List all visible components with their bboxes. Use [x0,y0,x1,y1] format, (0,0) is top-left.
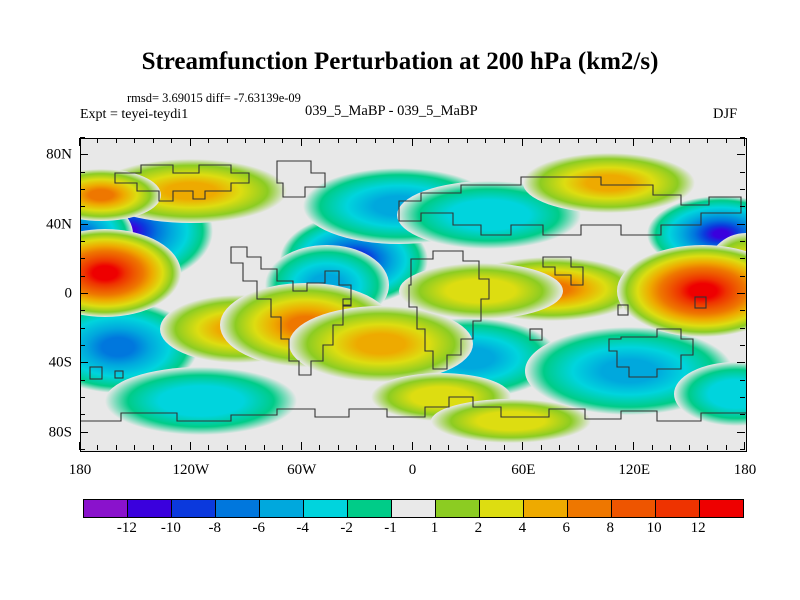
x-tick [134,138,135,143]
x-tick [707,445,708,450]
x-tick [726,445,727,450]
x-tick [245,445,246,450]
x-tick [153,138,154,143]
colorbar-tick-label: -10 [161,520,181,537]
x-tick [578,138,579,143]
colorbar-cell[interactable] [480,500,524,517]
x-tick [615,138,616,143]
x-tick [264,138,265,143]
x-tick [208,138,209,143]
y-tick [740,189,745,190]
x-tick [541,445,542,450]
y-tick [80,258,85,259]
season-label: DJF [713,106,737,123]
x-tick [522,138,523,146]
x-axis-label: 60W [287,462,316,479]
x-tick [689,445,690,450]
x-tick [134,445,135,450]
x-tick [338,445,339,450]
x-tick [559,138,560,143]
x-tick [338,138,339,143]
colorbar-tick-label: -8 [209,520,222,537]
y-tick [80,362,88,363]
map-plot-area [80,138,747,452]
page-title: Streamfunction Perturbation at 200 hPa (… [0,48,800,76]
y-axis-label: 40N [26,216,72,233]
y-tick [80,397,85,398]
y-tick [740,172,745,173]
x-tick [559,445,560,450]
y-tick [80,293,88,294]
colorbar-tick-label: 1 [431,520,439,537]
x-tick [467,138,468,143]
y-tick [740,206,745,207]
y-tick [740,380,745,381]
y-tick [80,154,88,155]
x-axis-label: 180 [734,462,757,479]
colorbar-cell[interactable] [612,500,656,517]
x-tick [375,445,376,450]
colorbar-tick-label: 4 [519,520,527,537]
x-tick [190,138,191,146]
colorbar-tick-label: 10 [647,520,662,537]
y-tick [80,206,85,207]
x-tick [633,138,634,146]
x-tick [282,445,283,450]
colorbar-tick-label: -1 [384,520,397,537]
experiment-label: Expt = teyei-teydi1 [80,107,188,123]
rmsd-annotation: rmsd= 3.69015 diff= -7.63139e-09 [127,91,301,106]
x-tick [227,138,228,143]
x-tick [393,138,394,143]
x-tick [264,445,265,450]
x-tick [301,442,302,450]
contour-field [81,139,746,451]
x-tick [578,445,579,450]
x-tick [522,442,523,450]
colorbar-cell[interactable] [348,500,392,517]
x-tick [190,442,191,450]
x-tick [448,445,449,450]
y-tick [740,258,745,259]
x-tick [375,138,376,143]
colorbar[interactable] [83,499,744,518]
y-tick [80,328,85,329]
y-tick [737,432,745,433]
colorbar-cell[interactable] [84,500,128,517]
x-tick [485,138,486,143]
y-tick [80,224,88,225]
y-axis-label: 0 [26,286,72,303]
x-tick [208,445,209,450]
y-axis-label: 40S [26,355,72,372]
colorbar-tick-label: 6 [563,520,571,537]
x-tick [153,445,154,450]
y-tick [737,154,745,155]
x-tick [670,138,671,143]
colorbar-cell[interactable] [128,500,172,517]
x-tick [301,138,302,146]
x-tick [412,442,413,450]
x-tick [282,138,283,143]
x-tick [504,138,505,143]
colorbar-cell[interactable] [700,500,743,517]
x-tick [356,445,357,450]
y-tick [80,137,85,138]
y-tick [740,397,745,398]
figure-canvas: Streamfunction Perturbation at 200 hPa (… [0,0,800,600]
y-tick [80,345,85,346]
colorbar-tick-label: 8 [606,520,614,537]
x-tick [541,138,542,143]
y-tick [80,276,85,277]
y-tick [737,224,745,225]
x-tick [171,445,172,450]
y-tick [740,345,745,346]
y-tick [80,414,85,415]
colorbar-cell[interactable] [656,500,700,517]
x-tick [670,445,671,450]
x-axis-label: 120E [618,462,650,479]
x-tick [412,138,413,146]
x-axis-label: 0 [409,462,417,479]
x-tick [245,138,246,143]
x-tick [652,138,653,143]
y-tick [740,328,745,329]
x-tick [319,445,320,450]
colorbar-cell[interactable] [568,500,612,517]
x-tick [467,445,468,450]
x-tick [485,445,486,450]
x-tick [97,138,98,143]
x-axis-label: 180 [69,462,92,479]
x-axis-label: 60E [511,462,535,479]
x-axis-label: 120W [172,462,209,479]
x-tick [707,138,708,143]
x-tick [356,138,357,143]
colorbar-tick-label: -12 [117,520,137,537]
x-tick [744,138,745,146]
case-label: 039_5_MaBP - 039_5_MaBP [305,103,478,120]
x-tick [596,445,597,450]
y-tick [80,172,85,173]
y-tick [80,380,85,381]
x-tick [430,445,431,450]
x-tick [633,442,634,450]
y-tick [80,432,88,433]
x-tick [615,445,616,450]
colorbar-tick-label: -6 [252,520,265,537]
x-tick [116,138,117,143]
y-tick [80,310,85,311]
colorbar-cell[interactable] [304,500,348,517]
x-tick [393,445,394,450]
y-axis-label: 80N [26,147,72,164]
y-axis-label: 80S [26,424,72,441]
y-tick [740,449,745,450]
x-tick [116,445,117,450]
x-tick [319,138,320,143]
y-tick [737,362,745,363]
x-tick [97,445,98,450]
x-tick [227,445,228,450]
x-tick [79,138,80,146]
y-tick [80,449,85,450]
y-tick [80,241,85,242]
x-tick [726,138,727,143]
y-tick [740,276,745,277]
y-tick [740,241,745,242]
colorbar-tick-label: 2 [475,520,483,537]
colorbar-cell[interactable] [216,500,260,517]
x-tick [596,138,597,143]
y-tick [740,310,745,311]
colorbar-cell[interactable] [172,500,216,517]
x-tick [430,138,431,143]
colorbar-tick-label: -4 [296,520,309,537]
x-tick [448,138,449,143]
y-tick [740,137,745,138]
colorbar-tick-label: -2 [340,520,353,537]
colorbar-cell[interactable] [260,500,304,517]
colorbar-cell[interactable] [524,500,568,517]
y-tick [737,293,745,294]
x-tick [171,138,172,143]
x-tick [504,445,505,450]
x-tick [689,138,690,143]
y-tick [80,189,85,190]
colorbar-cell[interactable] [436,500,480,517]
colorbar-cell[interactable] [392,500,436,517]
colorbar-tick-label: 12 [691,520,706,537]
x-tick [652,445,653,450]
y-tick [740,414,745,415]
